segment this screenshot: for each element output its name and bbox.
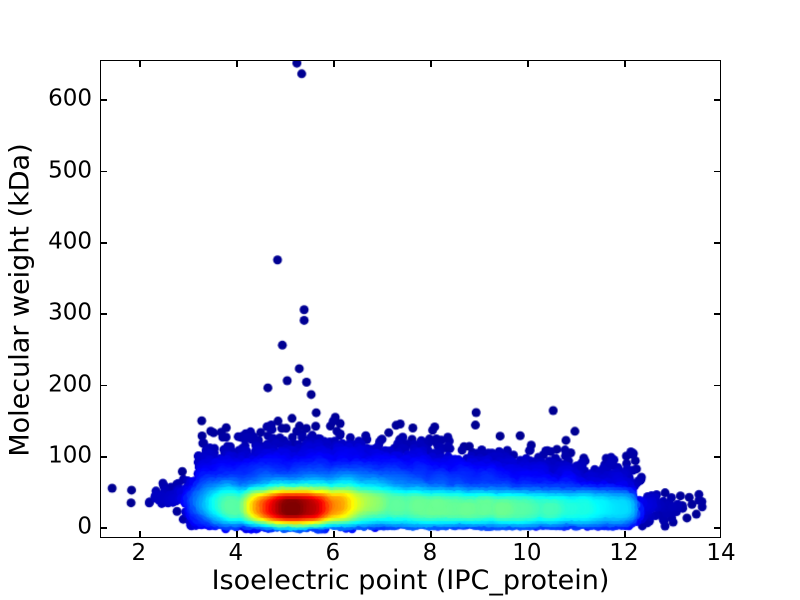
x-tick-label: 10 bbox=[512, 542, 541, 565]
y-tick-mark bbox=[101, 313, 107, 315]
x-axis-label: Isoelectric point (IPC_protein) bbox=[100, 566, 721, 596]
x-tick-mark-top bbox=[333, 61, 335, 67]
x-tick-mark bbox=[236, 531, 238, 537]
y-tick-label: 100 bbox=[48, 444, 92, 467]
figure-canvas: Molecular weight (kDa) 01002003004005006… bbox=[0, 0, 800, 600]
x-tick-label: 6 bbox=[326, 542, 341, 565]
y-tick-mark-right bbox=[714, 242, 720, 244]
x-tick-mark bbox=[624, 531, 626, 537]
x-tick-label: 4 bbox=[229, 542, 244, 565]
y-tick-label: 300 bbox=[48, 302, 92, 325]
x-tick-mark-top bbox=[527, 61, 529, 67]
x-tick-mark-top bbox=[624, 61, 626, 67]
x-tick-mark bbox=[333, 531, 335, 537]
y-tick-mark bbox=[101, 171, 107, 173]
x-tick-label: 12 bbox=[609, 542, 638, 565]
y-tick-mark bbox=[101, 385, 107, 387]
y-tick-mark bbox=[101, 456, 107, 458]
y-tick-mark-right bbox=[714, 456, 720, 458]
x-tick-mark bbox=[430, 531, 432, 537]
y-tick-mark-right bbox=[714, 99, 720, 101]
y-tick-label: 0 bbox=[77, 516, 92, 539]
x-tick-mark bbox=[527, 531, 529, 537]
x-tick-mark bbox=[139, 531, 141, 537]
y-tick-mark-right bbox=[714, 527, 720, 529]
y-tick-label: 500 bbox=[48, 159, 92, 182]
x-tick-label: 8 bbox=[423, 542, 438, 565]
y-tick-mark-right bbox=[714, 313, 720, 315]
y-tick-label: 600 bbox=[48, 88, 92, 111]
x-tick-mark-top bbox=[430, 61, 432, 67]
y-tick-mark-right bbox=[714, 171, 720, 173]
scatter-density-canvas bbox=[101, 61, 720, 537]
y-tick-label-group: 0100200300400500600 bbox=[0, 0, 92, 600]
y-tick-label: 200 bbox=[48, 373, 92, 396]
y-tick-mark bbox=[101, 242, 107, 244]
x-tick-label: 14 bbox=[706, 542, 735, 565]
y-tick-mark-right bbox=[714, 385, 720, 387]
x-tick-label: 2 bbox=[131, 542, 146, 565]
y-tick-mark bbox=[101, 527, 107, 529]
plot-area bbox=[100, 60, 721, 538]
x-tick-mark-top bbox=[236, 61, 238, 67]
x-tick-mark-top bbox=[139, 61, 141, 67]
y-tick-label: 400 bbox=[48, 230, 92, 253]
y-tick-mark bbox=[101, 99, 107, 101]
